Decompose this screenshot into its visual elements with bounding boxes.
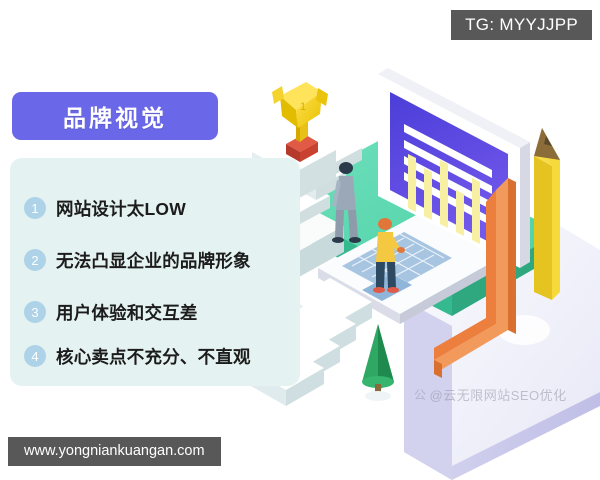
list-item-label: 无法凸显企业的品牌形象 [56,248,251,273]
tree-lower [362,324,394,401]
watermark-label: @云无限网站SEO优化 [430,385,567,404]
triangle-ruler [434,178,516,378]
list-item-label: 用户体验和交互差 [56,300,198,325]
list-item-number: 2 [24,249,46,271]
list-item: 1 网站设计太LOW [24,192,186,224]
issues-list-panel: 1 网站设计太LOW 2 无法凸显企业的品牌形象 3 用户体验和交互差 4 核心… [10,158,300,386]
watermark: 公 @云无限网站SEO优化 [414,385,567,404]
mint-platform [268,140,560,316]
poster-canvas: 1 [0,0,600,480]
list-item-number: 3 [24,301,46,323]
base-plate [404,226,600,480]
list-item-label: 核心卖点不充分、不直观 [56,344,251,369]
list-item-number: 1 [24,197,46,219]
title-badge: 品牌视觉 [12,92,218,140]
person-standing [373,218,405,293]
trackpad [362,274,412,301]
laptop-base [318,214,500,324]
watermark-logo-icon: 公 [414,386,427,403]
trophy-number: 1 [300,101,306,113]
screen-bars [408,154,480,244]
list-item-label: 网站设计太LOW [56,196,186,221]
person-walking [332,162,361,243]
tg-tag: TG: MYYJJPP [451,10,592,40]
list-item: 2 无法凸显企业的品牌形象 [24,244,251,276]
list-item: 4 核心卖点不充分、不直观 [24,340,251,372]
url-tag: www.yongniankuangan.com [8,437,221,467]
screen-display [390,92,508,252]
list-item-number: 4 [24,345,46,367]
mouse-pad-oval [498,315,550,345]
screen-lines [404,124,492,226]
title-badge-label: 品牌视觉 [63,99,167,133]
trophy-icon: 1 [272,82,328,162]
keyboard-keys [342,232,452,292]
pencil-icon [534,128,560,300]
list-item: 3 用户体验和交互差 [24,296,198,328]
laptop-screen [378,68,530,268]
